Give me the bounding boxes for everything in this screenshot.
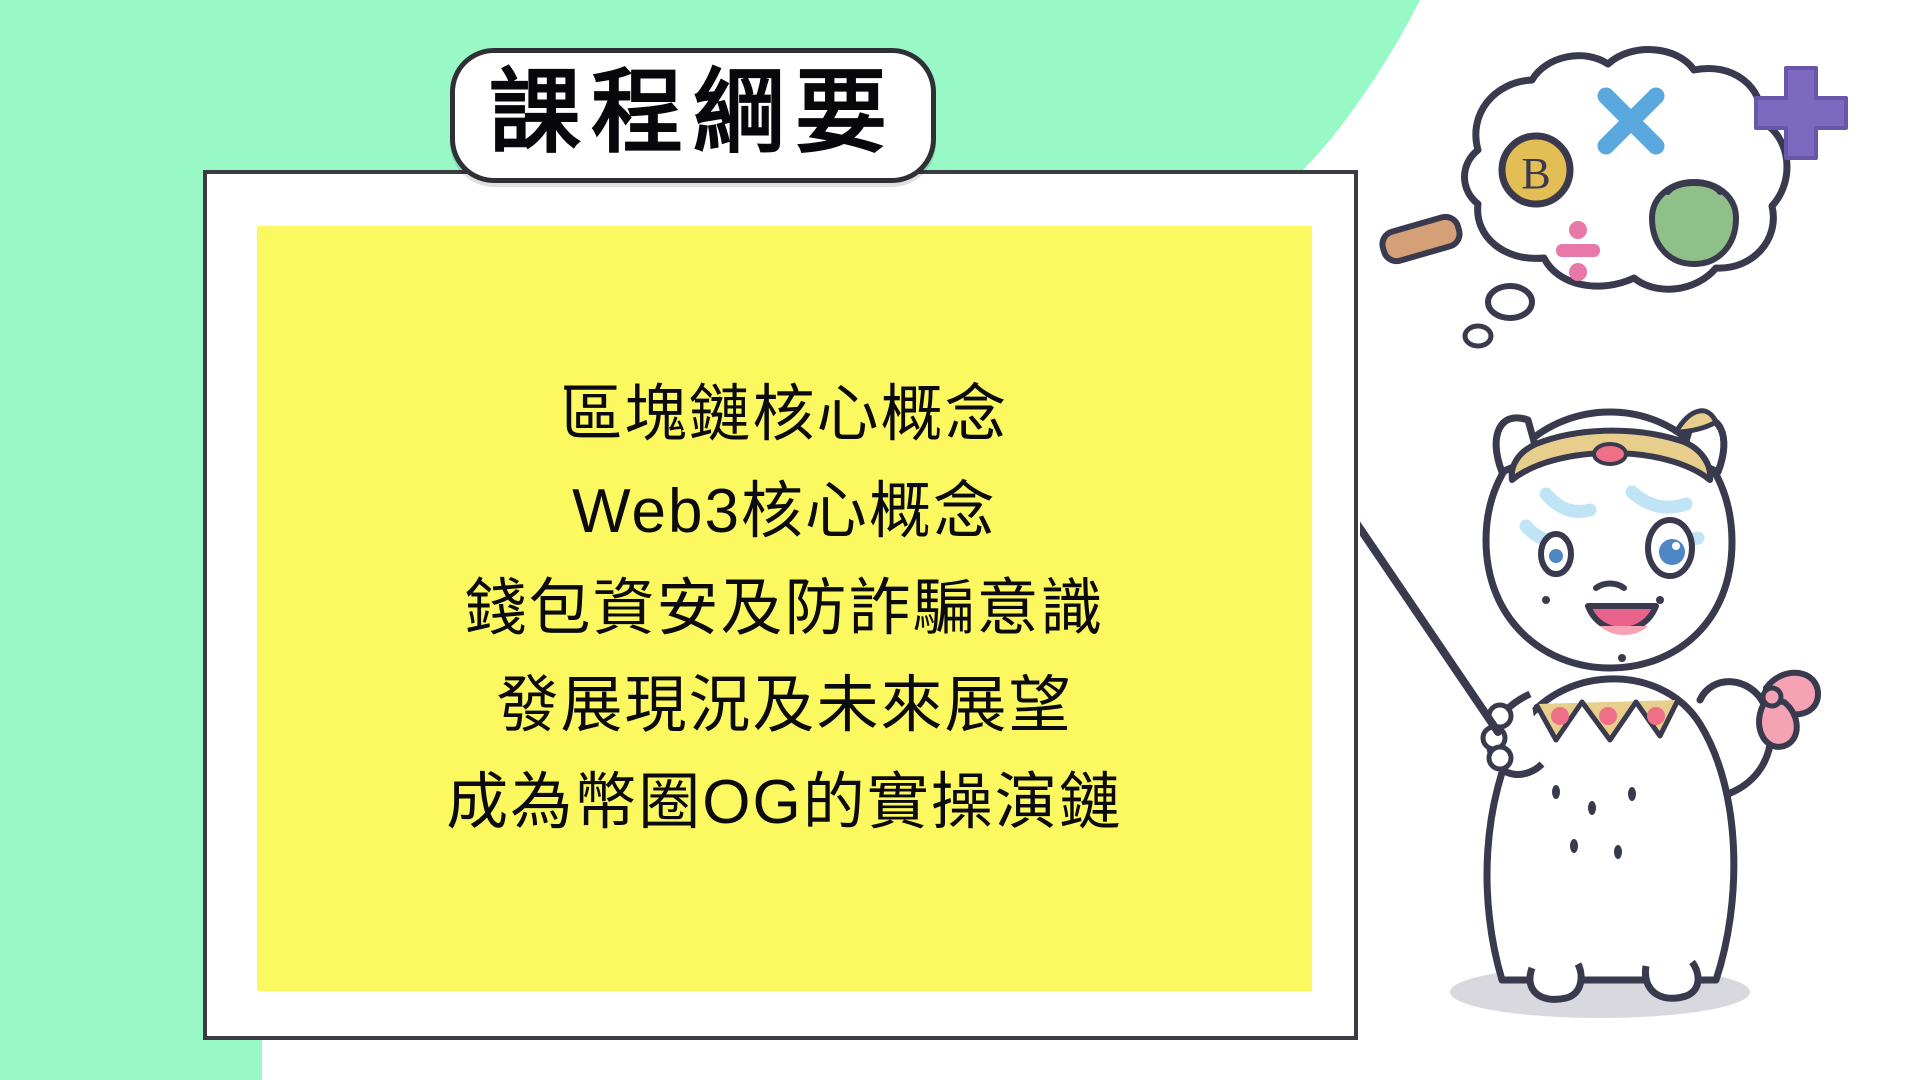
mascot-leg-right (1645, 962, 1698, 998)
mascot-head (1486, 412, 1732, 668)
mascot-arm (1490, 694, 1542, 774)
mascot-necklace (1536, 700, 1678, 740)
outline-item-3: 錢包資安及防詐騙意識 (464, 572, 1104, 645)
minus-bar-icon (1379, 214, 1462, 264)
outline-item-2: Web3核心概念 (572, 475, 997, 548)
mascot-eye-left (1541, 534, 1571, 574)
outline-panel: 區塊鏈核心概念 Web3核心概念 錢包資安及防詐騙意識 發展現況及未來展望 成為… (257, 226, 1312, 991)
mascot-leg-left (1530, 964, 1581, 999)
pointer-stick (1360, 425, 1498, 732)
plus-icon (1756, 68, 1846, 158)
mascot-crown-icon (1512, 411, 1716, 480)
illustration: B (1360, 40, 1920, 1080)
mascot-ear-right (1682, 418, 1724, 472)
mascot-paw (1483, 705, 1511, 769)
coin-purse-icon (1652, 182, 1736, 264)
mascot-ear-left (1496, 418, 1538, 472)
multiply-icon (1606, 96, 1656, 146)
mascot-belly-spots (1552, 785, 1636, 859)
title-sticker-wrap: 課程綱要 (450, 48, 936, 183)
mascot-shadow (1450, 966, 1750, 1018)
mascot-eye-right (1648, 520, 1692, 576)
bubble-tail-2 (1465, 326, 1491, 346)
tiger-mascot (1450, 411, 1818, 1018)
bubble-tail-1 (1488, 286, 1532, 318)
mascot-nose (1596, 584, 1624, 589)
page-title: 課程綱要 (489, 65, 897, 162)
slide-canvas: 區塊鏈核心概念 Web3核心概念 錢包資安及防詐騙意識 發展現況及未來展望 成為… (0, 0, 1920, 1080)
divide-icon (1556, 221, 1600, 281)
mascot-stripes (1526, 492, 1698, 540)
mascot-tail (1700, 682, 1771, 800)
mascot-body (1487, 679, 1734, 980)
svg-text:B: B (1521, 149, 1550, 198)
outline-item-5: 成為幣圈OG的實操演鏈 (446, 766, 1122, 839)
thought-bubble (1465, 50, 1787, 346)
mascot-bow-icon (1759, 673, 1818, 747)
outline-item-1: 區塊鏈核心概念 (560, 378, 1008, 451)
outline-board: 區塊鏈核心概念 Web3核心概念 錢包資安及防詐騙意識 發展現況及未來展望 成為… (203, 170, 1358, 1040)
mascot-mouth (1588, 606, 1656, 635)
outline-item-4: 發展現況及未來展望 (496, 669, 1072, 742)
bitcoin-coin-icon: B (1502, 136, 1570, 204)
mascot-whisker-dots (1542, 596, 1664, 662)
title-sticker: 課程綱要 (450, 48, 936, 183)
